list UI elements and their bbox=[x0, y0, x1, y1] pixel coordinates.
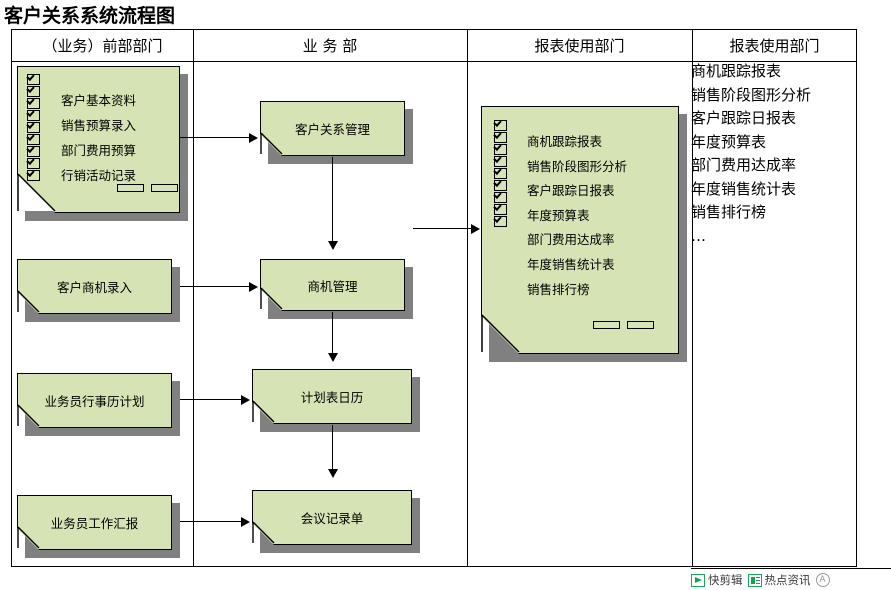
connector-line-9 bbox=[413, 228, 473, 229]
report-list-item: 商机跟踪报表 bbox=[691, 60, 851, 84]
report-list-item: 部门费用达成率 bbox=[691, 154, 851, 178]
process-doc-meeting-record[interactable]: 会议记录单 bbox=[252, 490, 412, 545]
report-list-item: … bbox=[691, 225, 851, 249]
process-doc-plan-calendar[interactable]: 计划表日历 bbox=[252, 369, 412, 424]
connector-line-2 bbox=[332, 157, 333, 242]
column-divider-2 bbox=[467, 30, 468, 566]
status-item-label: 快剪辑 bbox=[708, 572, 743, 588]
connector-arrow-4 bbox=[328, 353, 338, 362]
input-doc-sales-calendar-plan[interactable]: 业务员行事历计划 bbox=[17, 373, 172, 428]
connector-arrow-5 bbox=[241, 395, 250, 405]
front-dept-item-list: 客户基本资料销售预算录入部门费用预算行销活动记录 bbox=[61, 88, 224, 188]
checkbox-checked-icon bbox=[27, 122, 40, 133]
connector-line-6 bbox=[332, 425, 333, 470]
status-item-news[interactable]: 热点资讯 bbox=[748, 572, 811, 588]
connector-arrow-6 bbox=[328, 469, 338, 478]
checkbox-checked-icon bbox=[494, 216, 507, 227]
report-output-document[interactable]: 商机跟踪报表销售阶段图形分析客户跟踪日报表年度预算表部门费用达成率年度销售统计表… bbox=[481, 106, 679, 354]
news-icon bbox=[748, 574, 762, 587]
input-doc-label: 客户商机录入 bbox=[17, 259, 172, 322]
report-list-item: 销售阶段图形分析 bbox=[691, 84, 851, 108]
connector-line-3 bbox=[180, 286, 250, 287]
process-doc-opportunity-mgmt[interactable]: 商机管理 bbox=[260, 259, 405, 311]
connector-line-4 bbox=[332, 312, 333, 354]
front-dept-checklist-document[interactable]: 客户基本资料销售预算录入部门费用预算行销活动记录 bbox=[17, 66, 180, 213]
document-footer-bar bbox=[151, 184, 178, 192]
document-footer-bar bbox=[117, 184, 144, 192]
circle-badge-icon: A bbox=[816, 573, 830, 587]
connector-line-7 bbox=[180, 521, 242, 522]
document-footer-bars bbox=[117, 184, 178, 192]
input-doc-sales-work-report[interactable]: 业务员工作汇报 bbox=[17, 495, 172, 550]
page-title: 客户关系系统流程图 bbox=[4, 1, 175, 28]
column-header-report-dept: 报表使用部门 bbox=[467, 34, 692, 58]
checkbox-checked-icon bbox=[27, 98, 40, 109]
column-header-business-dept: 业 务 部 bbox=[193, 34, 467, 58]
checkbox-checked-icon bbox=[27, 74, 40, 85]
connector-arrow-3 bbox=[249, 282, 258, 292]
checkbox-column bbox=[27, 74, 40, 182]
front-dept-item: 销售预算录入 bbox=[61, 113, 224, 138]
report-item: 销售排行榜 bbox=[527, 278, 725, 303]
checkbox-checked-icon bbox=[494, 204, 507, 215]
checkbox-checked-icon bbox=[494, 132, 507, 143]
checkbox-checked-icon bbox=[27, 86, 40, 97]
document-footer-bars bbox=[593, 321, 654, 329]
checkbox-checked-icon bbox=[494, 168, 507, 179]
checkbox-column bbox=[494, 120, 507, 228]
checkbox-checked-icon bbox=[494, 144, 507, 155]
report-list-item: 销售排行榜 bbox=[691, 201, 851, 225]
front-dept-item: 部门费用预算 bbox=[61, 138, 224, 163]
checkbox-checked-icon bbox=[27, 146, 40, 157]
document-footer-bar bbox=[593, 321, 620, 329]
input-doc-label: 业务员行事历计划 bbox=[17, 373, 172, 436]
checkbox-checked-icon bbox=[27, 134, 40, 145]
report-list-item: 客户跟踪日报表 bbox=[691, 107, 851, 131]
process-doc-crm[interactable]: 客户关系管理 bbox=[260, 101, 405, 156]
report-name-list: 商机跟踪报表销售阶段图形分析客户跟踪日报表年度预算表部门费用达成率年度销售统计表… bbox=[691, 60, 851, 248]
checkbox-checked-icon bbox=[27, 110, 40, 121]
connector-arrow-8 bbox=[471, 224, 480, 234]
status-bar: 快剪辑 热点资讯 A bbox=[691, 568, 891, 590]
connector-line-5 bbox=[180, 399, 242, 400]
connector-arrow-2 bbox=[328, 241, 338, 250]
video-clip-icon bbox=[691, 574, 705, 587]
checkbox-checked-icon bbox=[494, 120, 507, 131]
document-footer-bar bbox=[627, 321, 654, 329]
status-item-badge[interactable]: A bbox=[816, 573, 833, 587]
input-doc-label: 业务员工作汇报 bbox=[17, 495, 172, 558]
column-header-front-dept: （业务）前部部门 bbox=[12, 34, 193, 58]
status-item-video-clip[interactable]: 快剪辑 bbox=[691, 572, 743, 588]
input-doc-customer-opportunity[interactable]: 客户商机录入 bbox=[17, 259, 172, 314]
checkbox-checked-icon bbox=[494, 192, 507, 203]
column-header-report-dept-list: 报表使用部门 bbox=[692, 34, 857, 58]
checkbox-checked-icon bbox=[494, 180, 507, 191]
report-item: 年度销售统计表 bbox=[527, 253, 725, 278]
process-doc-label: 会议记录单 bbox=[252, 490, 412, 555]
front-dept-item: 客户基本资料 bbox=[61, 88, 224, 113]
checkbox-checked-icon bbox=[27, 158, 40, 169]
report-list-item: 年度销售统计表 bbox=[691, 178, 851, 202]
connector-line-1 bbox=[180, 137, 250, 138]
report-list-item: 年度预算表 bbox=[691, 131, 851, 155]
status-item-label: 热点资讯 bbox=[765, 572, 811, 588]
connector-arrow-1 bbox=[249, 133, 258, 143]
checkbox-checked-icon bbox=[494, 156, 507, 167]
checkbox-checked-icon bbox=[27, 170, 40, 181]
connector-arrow-7 bbox=[241, 517, 250, 527]
